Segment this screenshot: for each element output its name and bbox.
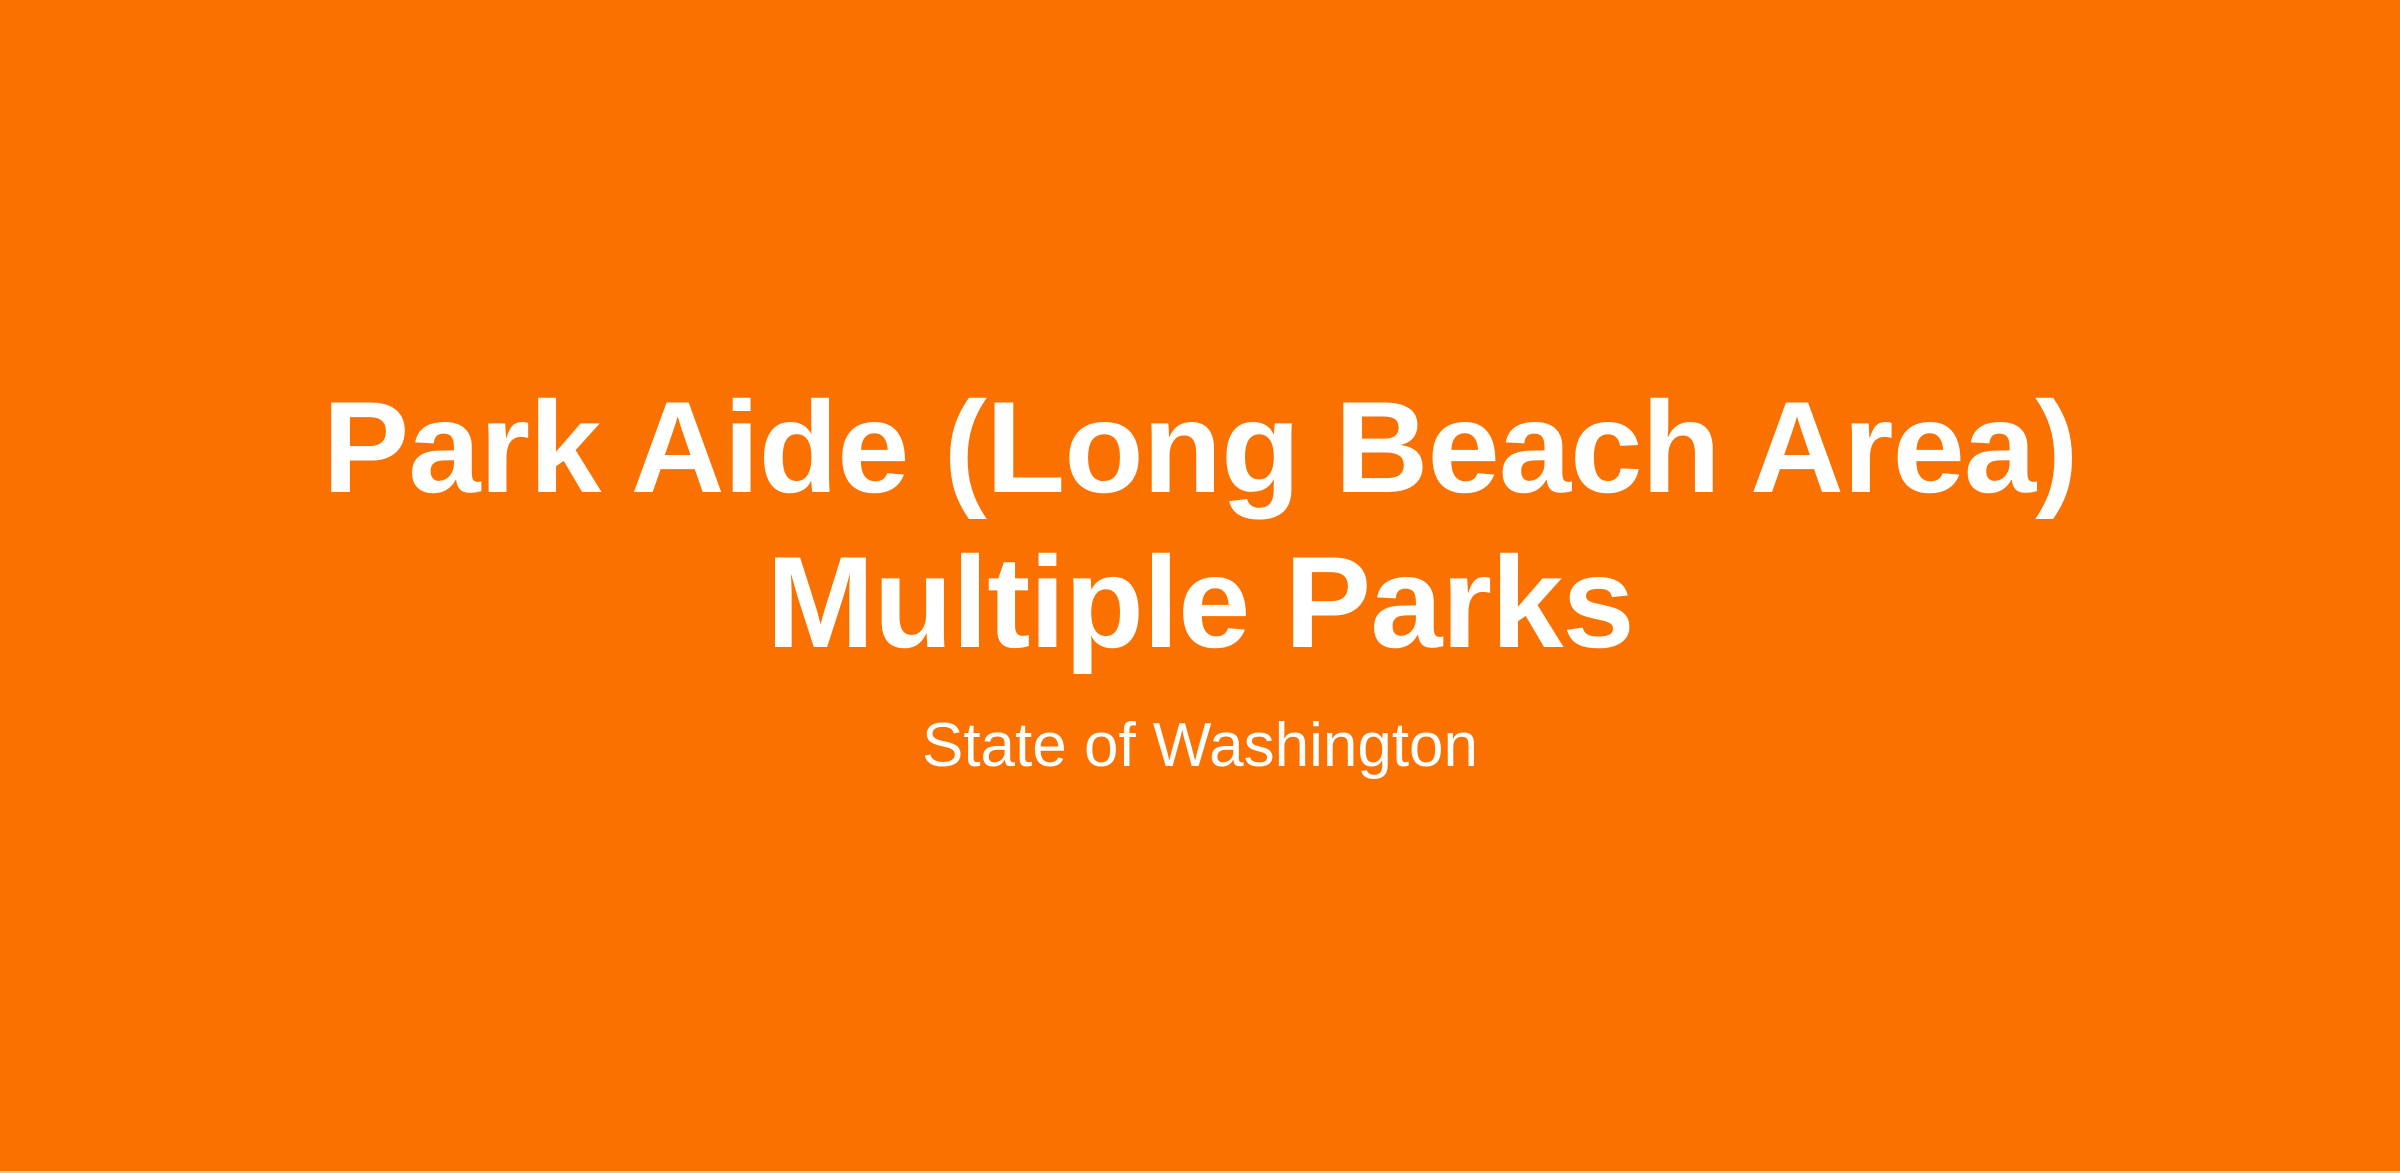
page-subtitle: State of Washington [60,680,2340,784]
page-title-line-1: Park Aide (Long Beach Area) [60,370,2340,525]
banner-heading-block: Park Aide (Long Beach Area) Multiple Par… [0,370,2400,784]
job-posting-banner: Park Aide (Long Beach Area) Multiple Par… [0,0,2400,1173]
page-title: Park Aide (Long Beach Area) Multiple Par… [60,370,2340,680]
page-title-line-2: Multiple Parks [60,525,2340,680]
